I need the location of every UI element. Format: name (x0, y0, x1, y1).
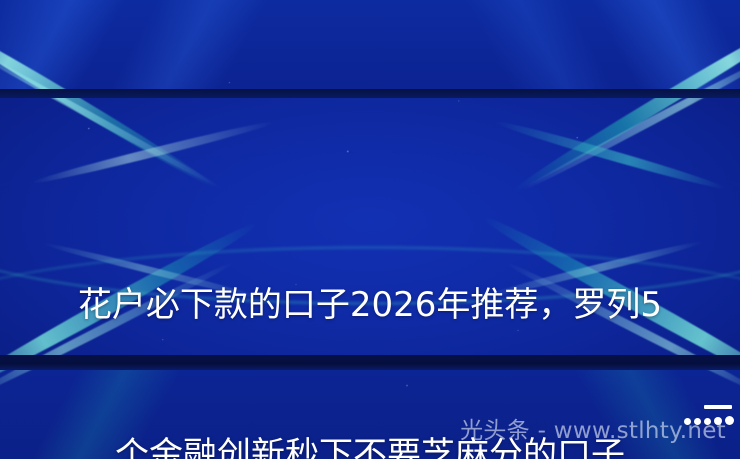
logo-dot-1 (684, 418, 691, 425)
bar-dots-logo-icon (684, 405, 732, 431)
logo-dot-4 (714, 417, 722, 425)
article-cover-banner: 花户必下款的口子2026年推荐，罗列5 个金融创新秒下不要芝麻分的口子 光头条 … (0, 0, 740, 459)
logo-dot-5 (725, 416, 734, 425)
top-dark-band (0, 89, 740, 98)
logo-bar (704, 405, 732, 409)
logo-dot-2 (694, 418, 701, 425)
page-title-line-1: 花户必下款的口子2026年推荐，罗列5 (0, 280, 740, 330)
logo-dots (684, 416, 734, 425)
logo-dot-3 (704, 418, 711, 425)
